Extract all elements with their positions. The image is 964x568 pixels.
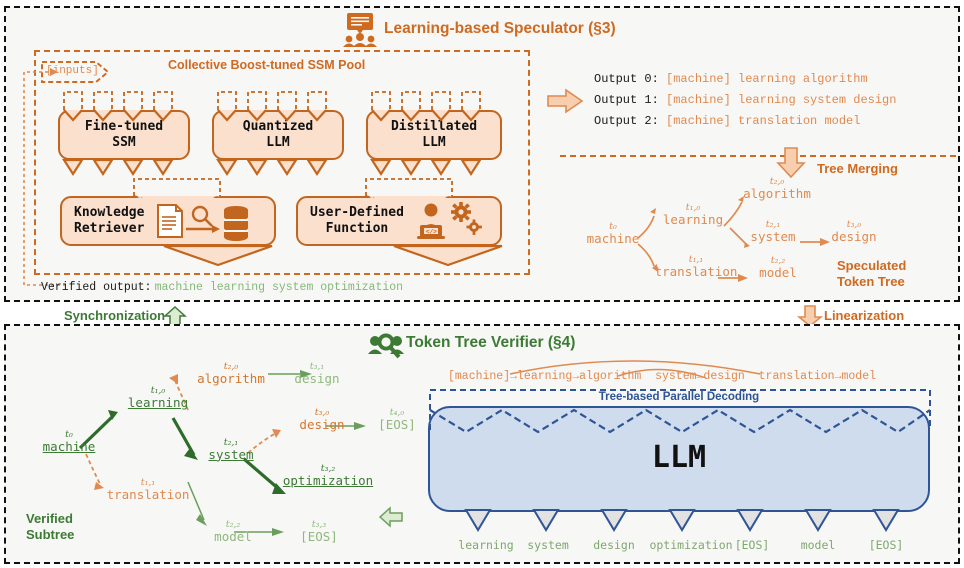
node-text: model [202, 530, 264, 544]
output-rest: learning algorithm [738, 72, 868, 86]
user-defined-function-icons: </> [414, 201, 484, 241]
tree-merging-arrow [776, 146, 806, 180]
module-fine-tuned-ssm[interactable]: Fine-tuned SSM [58, 110, 190, 160]
node-text: learning [118, 396, 198, 410]
module-user-defined-function[interactable]: User-Defined Function </> [296, 196, 502, 246]
database-icon [224, 206, 248, 241]
gears-icon [451, 202, 482, 235]
page-title-speculator: Learning-based Speculator (§3) [384, 20, 616, 38]
output-row: Output 2: [machine] translation model [594, 113, 896, 129]
lin-token: [machine] [448, 370, 510, 383]
spec-node-t20: t₂,₀ algorithm [736, 177, 818, 201]
output-token: [machine] [666, 93, 731, 107]
verified-node-t40: t₄,₀ [EOS] [366, 408, 428, 432]
node-text: design [286, 372, 348, 386]
output-rest: learning system design [738, 93, 896, 107]
module-distillated-llm[interactable]: Distillated LLM [366, 110, 502, 160]
label-text: Verified Subtree [26, 511, 74, 542]
verified-output-value: machine learning system optimization [155, 281, 403, 294]
document-icon [158, 205, 182, 237]
speculated-token-tree-label: Speculated Token Tree [837, 258, 906, 291]
node-text: algorithm [188, 372, 274, 386]
page-title-verifier: Token Tree Verifier (§4) [406, 334, 575, 352]
output-row: Output 0: [machine] learning algorithm [594, 71, 896, 87]
module-label: Distillated LLM [391, 119, 477, 152]
output-key: Output 1: [594, 93, 659, 107]
linearization-label: Linearization [824, 308, 904, 323]
module-quantized-llm[interactable]: Quantized LLM [212, 110, 344, 160]
arrow-to-outputs [546, 87, 586, 117]
llm-output-token: model [784, 538, 852, 552]
verified-output-label: Verified output: [41, 281, 151, 294]
magnifier-people-icon [367, 330, 405, 362]
label-text: Speculated Token Tree [837, 258, 906, 289]
knowledge-retriever-icons [154, 201, 250, 241]
outputs-list: Output 0: [machine] learning algorithm O… [594, 71, 896, 135]
linearized-token-sequence: [machine]→learning→algorithm system→desi… [448, 370, 876, 383]
search-icon [193, 207, 212, 226]
verified-node-t31: t₃,₁ design [286, 362, 348, 386]
verified-node-t20: t₂,₀ algorithm [188, 362, 274, 386]
presentation-people-icon [339, 12, 381, 48]
output-row: Output 1: [machine] learning system desi… [594, 92, 896, 108]
lin-token: design [703, 370, 744, 383]
lin-token: translation [759, 370, 835, 383]
ssm-pool-label: Collective Boost-tuned SSM Pool [168, 58, 365, 72]
spec-node-t11: t₁,₁ translation [648, 255, 744, 279]
node-text: system [196, 448, 266, 462]
spec-node-t22: t₂,₂ model [748, 256, 808, 280]
output-token: [machine] [666, 72, 731, 86]
person-laptop-icon: </> [417, 204, 445, 240]
verified-node-t11: t₁,₁ translation [96, 478, 200, 502]
verified-node-t21: t₂,₁ system [196, 438, 266, 462]
verified-node-t10: t₁,₀ learning [118, 386, 198, 410]
output-token: [machine] [666, 114, 731, 128]
verified-node-t33: t₃,₃ [EOS] [288, 520, 350, 544]
synchronization-label: Synchronization [64, 308, 165, 323]
node-text: system [740, 230, 806, 244]
module-knowledge-retriever[interactable]: Knowledge Retriever [60, 196, 276, 246]
spec-node-t30: t₃,₀ design [822, 220, 886, 244]
lin-token: model [841, 370, 876, 383]
llm-label: LLM [428, 440, 930, 475]
llm-output-token: [EOS] [718, 538, 786, 552]
node-text: optimization [272, 474, 384, 488]
spec-node-t0: t₀ machine [578, 222, 648, 246]
tree-merging-divider [560, 155, 956, 157]
llm-output-token: [EOS] [852, 538, 920, 552]
svg-text:</>: </> [426, 229, 437, 236]
node-text: translation [648, 265, 744, 279]
verified-subtree-arrow [378, 505, 404, 529]
output-key: Output 0: [594, 72, 659, 86]
module-label: Quantized LLM [243, 119, 313, 152]
node-text: machine [578, 232, 648, 246]
node-text: machine [32, 440, 106, 454]
output-key: Output 2: [594, 114, 659, 128]
node-text: model [748, 266, 808, 280]
lin-token: algorithm [579, 370, 641, 383]
inputs-tag-label: [inputs] [46, 65, 99, 77]
spec-node-t21: t₂,₁ system [740, 220, 806, 244]
node-text: algorithm [736, 187, 818, 201]
node-text: [EOS] [288, 530, 350, 544]
lin-token: system [655, 370, 696, 383]
node-text: translation [96, 488, 200, 502]
verified-node-t30: t₃,₀ design [290, 408, 354, 432]
verified-node-t22: t₂,₂ model [202, 520, 264, 544]
module-label: Knowledge Retriever [74, 205, 144, 238]
verified-subtree-label: Verified Subtree [26, 511, 74, 544]
output-rest: translation model [738, 114, 860, 128]
verified-node-t0: t₀ machine [32, 430, 106, 454]
module-label: User-Defined Function [310, 205, 404, 238]
node-text: [EOS] [366, 418, 428, 432]
node-text: design [822, 230, 886, 244]
verified-output-line: Verified output: machine learning system… [41, 281, 403, 294]
node-text: learning [655, 213, 731, 227]
node-text: design [290, 418, 354, 432]
tree-merging-label: Tree Merging [817, 161, 898, 176]
verified-node-t32: t₃,₂ optimization [272, 464, 384, 488]
module-label: Fine-tuned SSM [85, 119, 163, 152]
spec-node-t10: t₁,₀ learning [655, 203, 731, 227]
lin-token: learning [517, 370, 572, 383]
tree-based-parallel-decoding-label: Tree-based Parallel Decoding [428, 391, 930, 403]
